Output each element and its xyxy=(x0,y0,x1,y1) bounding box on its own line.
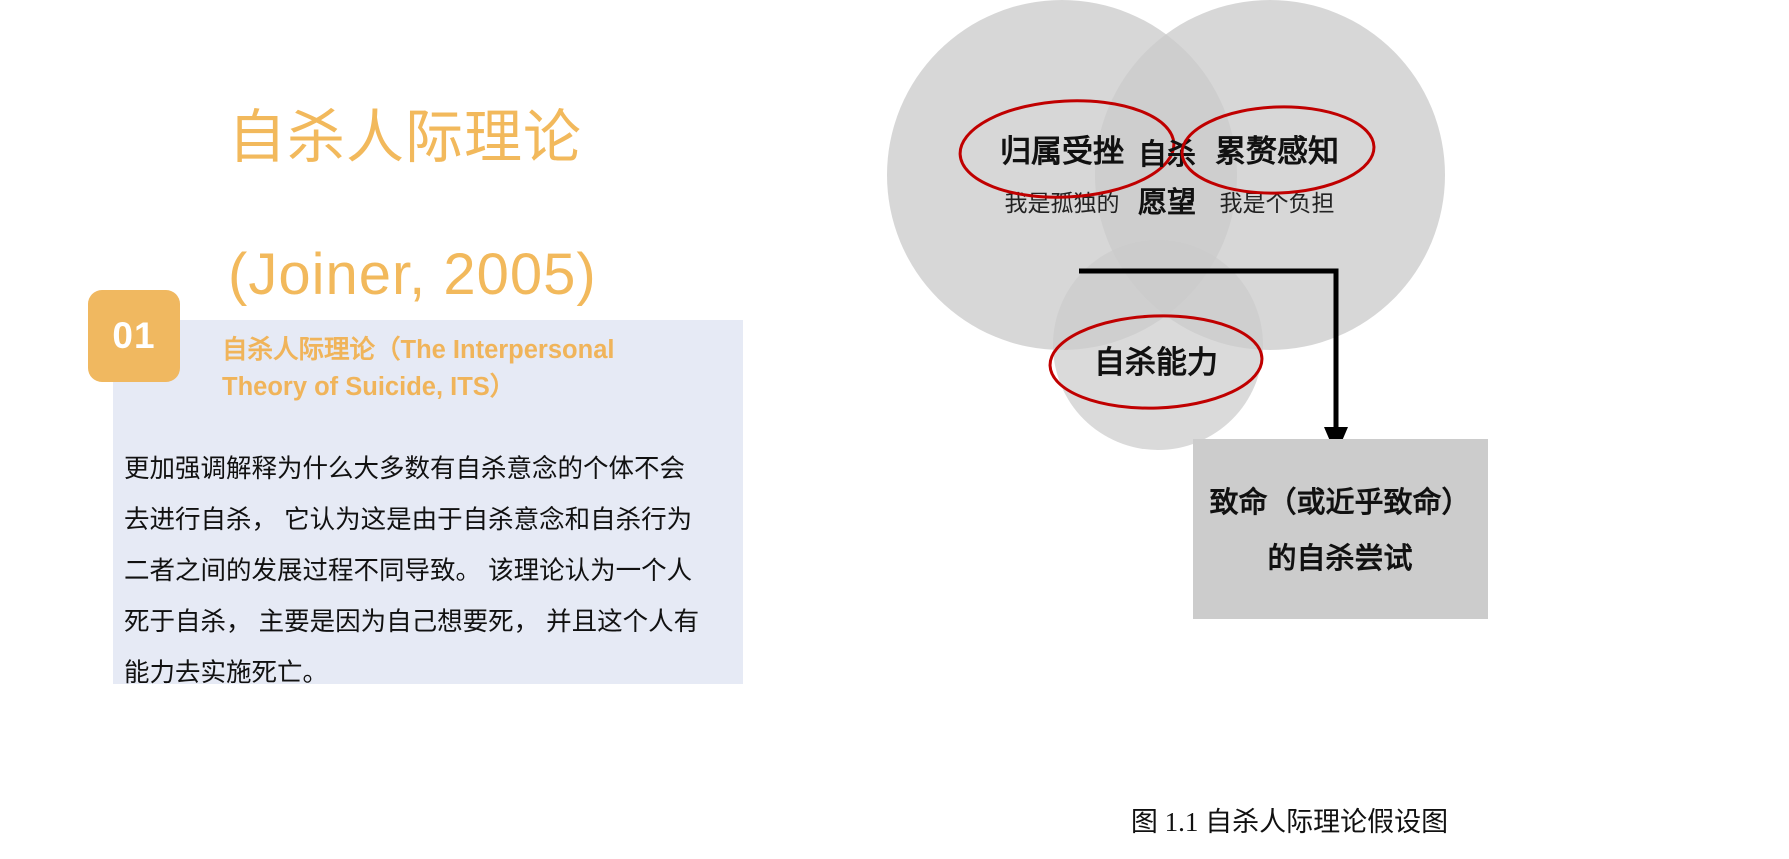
card-heading: 自杀人际理论（The Interpersonal Theory of Suici… xyxy=(222,332,692,406)
body-line: 能力去实施死亡。 xyxy=(124,648,732,699)
outcome-box-line-2: 的自杀尝试 xyxy=(1267,541,1412,575)
page-title-line-2: (Joiner, 2005) xyxy=(228,241,868,309)
label-acquired-capability: 自杀能力 xyxy=(1094,345,1218,380)
body-line: 去进行自杀， 它认为这是由于自杀意念和自杀行为 xyxy=(124,495,732,546)
diagram-panel: 归属受挫 我是孤独的 自杀 愿望 累赘感知 我是个负担 自杀能力 致命（或近乎致… xyxy=(790,0,1789,859)
body-line: 死于自杀， 主要是因为自己想要死， 并且这个人有 xyxy=(124,597,732,648)
label-perceived-burdensomeness: 累赘感知 xyxy=(1215,134,1339,169)
section-number-badge: 01 xyxy=(88,290,180,382)
body-line: 二者之间的发展过程不同导致。 该理论认为一个人 xyxy=(124,546,732,597)
venn-diagram: 归属受挫 我是孤独的 自杀 愿望 累赘感知 我是个负担 自杀能力 致命（或近乎致… xyxy=(790,0,1789,800)
sublabel-perceived-burdensomeness: 我是个负担 xyxy=(1220,191,1335,216)
page-title-line-1: 自杀人际理论 xyxy=(228,104,868,172)
label-suicidal-desire-line-2: 愿望 xyxy=(1138,186,1196,219)
body-line: 更加强调解释为什么大多数有自杀意念的个体不会 xyxy=(124,444,732,495)
outcome-box xyxy=(1193,439,1488,619)
card-body-text: 更加强调解释为什么大多数有自杀意念的个体不会 去进行自杀， 它认为这是由于自杀意… xyxy=(124,444,732,699)
figure-caption: 图 1.1 自杀人际理论假设图 xyxy=(790,800,1789,839)
left-content-panel: 自杀人际理论 (Joiner, 2005) 01 自杀人际理论（The Inte… xyxy=(0,0,900,859)
outcome-box-line-1: 致命（或近乎致命） xyxy=(1209,485,1470,519)
label-thwarted-belongingness: 归属受挫 xyxy=(1000,134,1124,169)
